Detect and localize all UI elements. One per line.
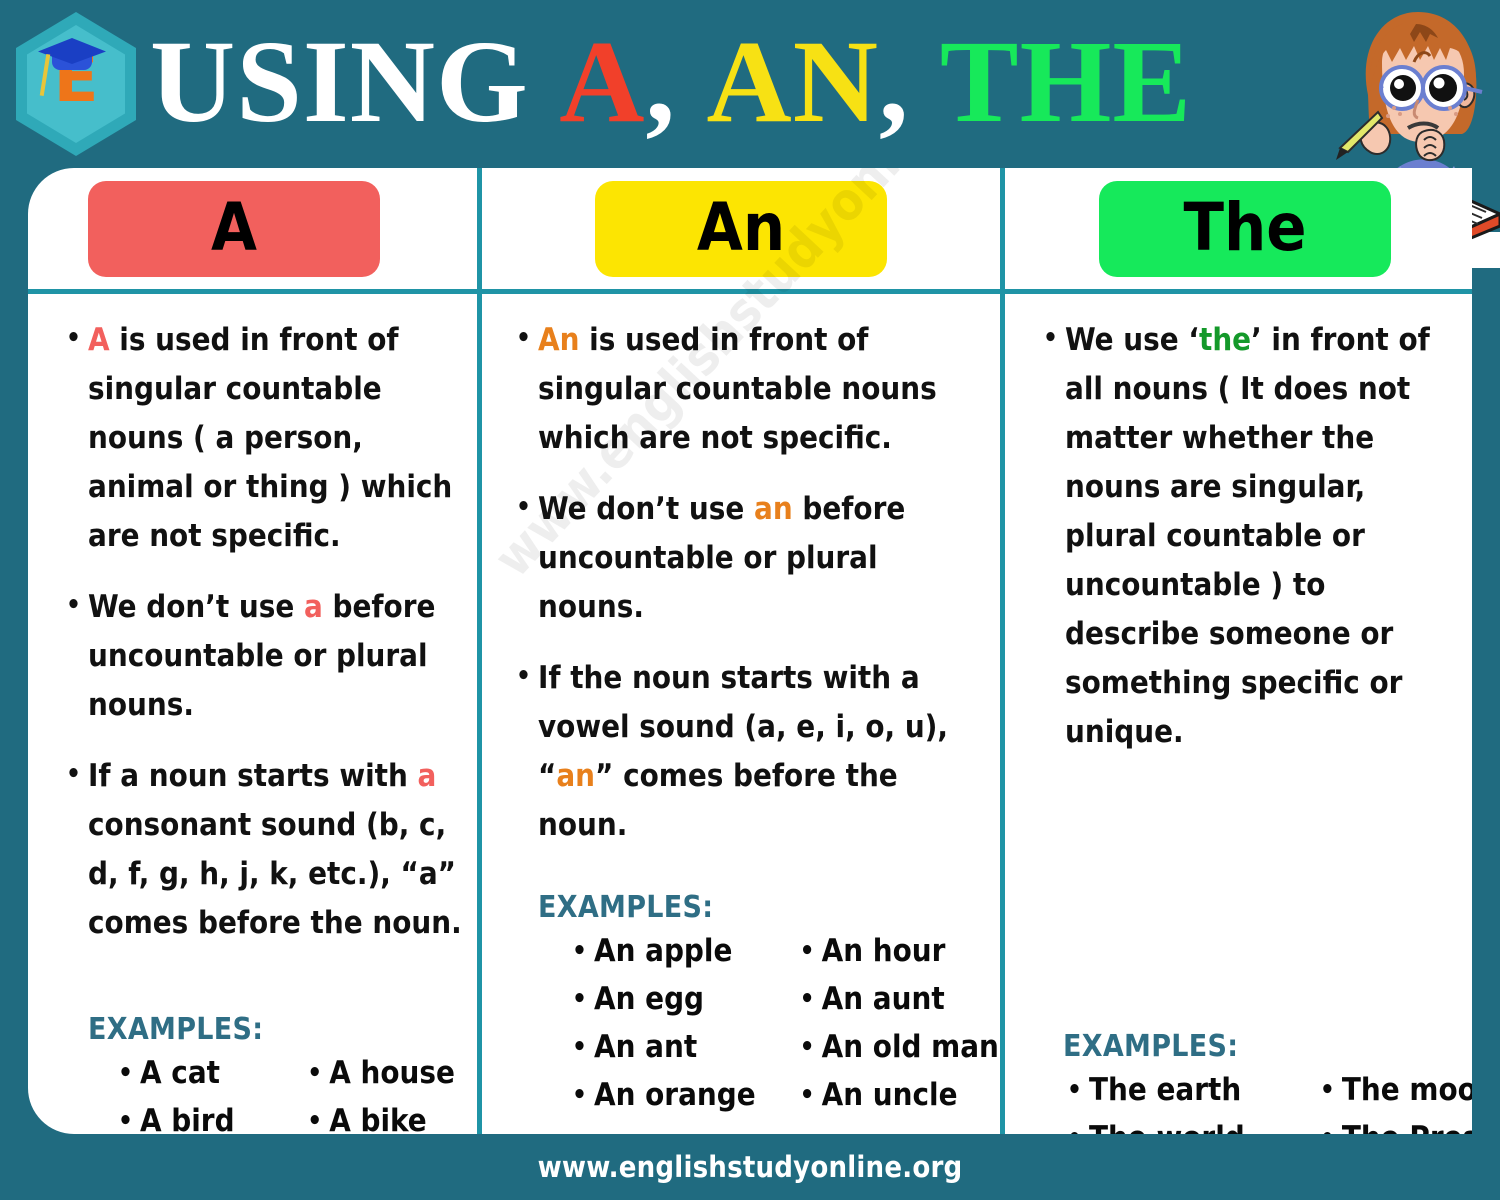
examples-a-right: A houseA bikeA boyA table — [303, 1049, 455, 1134]
rules-list-an: An is used in front of singular countabl… — [508, 316, 992, 850]
title-word-a: A — [559, 16, 645, 147]
examples-a-left: A catA birdA childA doctor — [114, 1049, 273, 1134]
rule-item: If the noun starts with a vowel sound (a… — [508, 654, 992, 850]
rule-item: A is used in front of singular countable… — [58, 316, 469, 561]
examples-label-an: EXAMPLES: — [538, 890, 992, 925]
footer-url: www.englishstudyonline.org — [538, 1150, 963, 1184]
rule-item: If a noun starts with a consonant sound … — [58, 752, 469, 948]
rule-highlight: an — [556, 758, 595, 794]
content-card: A An The www.englishstudyonline.org A is… — [28, 168, 1472, 1134]
title-word-an: AN — [706, 16, 878, 147]
example-item: The President — [1316, 1114, 1472, 1134]
examples-the: The earthThe worldThe airThe weather The… — [1063, 1066, 1464, 1134]
example-item: An hour — [796, 927, 999, 975]
rule-item: An is used in front of singular countabl… — [508, 316, 992, 463]
rule-highlight: an — [754, 491, 793, 527]
examples-label-a: EXAMPLES: — [88, 1012, 469, 1047]
column-header-the: The — [1004, 168, 1472, 289]
examples-an: An appleAn eggAn antAn orange An hourAn … — [568, 927, 992, 1119]
rules-list-the: We use ‘the’ in front of all nouns ( It … — [1035, 316, 1464, 757]
column-a: A is used in front of singular countable… — [28, 294, 477, 1134]
column-the: We use ‘the’ in front of all nouns ( It … — [1005, 294, 1472, 1134]
rule-item: We use ‘the’ in front of all nouns ( It … — [1035, 316, 1464, 757]
rule-highlight: a — [418, 758, 437, 794]
column-headers-row: A An The — [28, 168, 1472, 289]
examples-the-left: The earthThe worldThe airThe weather — [1063, 1066, 1286, 1134]
example-item: An uncle — [796, 1071, 999, 1119]
rule-item: We don’t use a before uncountable or plu… — [58, 583, 469, 730]
example-item: An egg — [568, 975, 756, 1023]
example-item: An aunt — [796, 975, 999, 1023]
poster-header: E USING A, AN, THE — [0, 0, 1500, 168]
example-item: An ant — [568, 1023, 756, 1071]
column-header-a: A — [28, 168, 477, 289]
examples-label-the: EXAMPLES: — [1063, 1029, 1464, 1064]
example-item: An apple — [568, 927, 756, 975]
example-item: A bike — [303, 1097, 455, 1134]
examples-an-left: An appleAn eggAn antAn orange — [568, 927, 756, 1119]
example-item: A house — [303, 1049, 455, 1097]
title-comma-2: , — [879, 16, 910, 147]
examples-an-right: An hourAn auntAn old manAn uncle — [796, 927, 999, 1119]
badge-the: The — [1099, 181, 1391, 277]
rule-item: We don’t use an before uncountable or pl… — [508, 485, 992, 632]
examples-a: A catA birdA childA doctor A houseA bike… — [114, 1049, 469, 1134]
example-item: A bird — [114, 1097, 273, 1134]
badge-an: An — [595, 181, 887, 277]
rules-list-a: A is used in front of singular countable… — [58, 316, 469, 948]
title-comma-1: , — [645, 16, 676, 147]
rule-highlight: An — [538, 322, 579, 358]
example-item: An orange — [568, 1071, 756, 1119]
example-item: An old man — [796, 1023, 999, 1071]
infographic-poster: E USING A, AN, THE — [0, 0, 1500, 1200]
examples-the-right: The moonThe PresidentThe CEOThe sun — [1316, 1066, 1472, 1134]
page-title: USING A, AN, THE — [150, 16, 1330, 148]
rule-highlight: the — [1199, 322, 1251, 358]
example-item: The world — [1063, 1114, 1286, 1134]
title-word-the: THE — [940, 16, 1192, 147]
column-header-an: An — [481, 168, 1000, 289]
rule-highlight: A — [88, 322, 110, 358]
example-item: The earth — [1063, 1066, 1286, 1114]
example-item: A cat — [114, 1049, 273, 1097]
graduation-cap-e-logo-icon: E — [16, 12, 136, 156]
column-an: An is used in front of singular countabl… — [482, 294, 1000, 1134]
badge-a: A — [88, 181, 380, 277]
title-word-using: USING — [150, 16, 529, 147]
rule-highlight: a — [304, 589, 323, 625]
poster-footer: www.englishstudyonline.org — [0, 1134, 1500, 1200]
example-item: The moon — [1316, 1066, 1472, 1114]
